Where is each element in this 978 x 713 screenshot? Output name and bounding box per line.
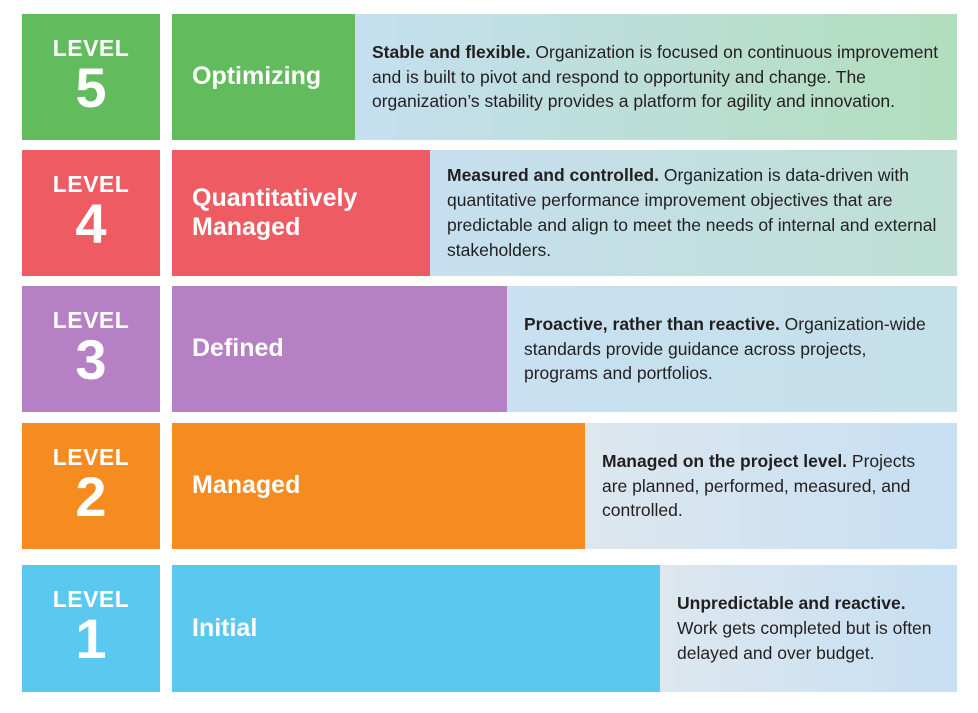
maturity-level-row-2: LEVEL 2 Managed Managed on the project l… xyxy=(0,423,978,549)
level-description-text: Managed on the project level. Projects a… xyxy=(602,449,943,524)
level-number-label: 2 xyxy=(75,471,106,523)
level-description-lead: Unpredictable and reactive. xyxy=(677,593,906,613)
level-name-label: Quantitatively Managed xyxy=(192,184,418,243)
maturity-level-row-1: LEVEL 1 Initial Unpredictable and reacti… xyxy=(0,565,978,692)
level-description-panel-3: Proactive, rather than reactive. Organiz… xyxy=(507,286,957,412)
level-number-label: 5 xyxy=(75,62,106,114)
level-number-label: 4 xyxy=(75,198,106,250)
level-name-label: Defined xyxy=(192,334,284,364)
level-description-lead: Measured and controlled. xyxy=(447,165,659,185)
level-name-bar-4: Quantitatively Managed xyxy=(172,150,430,276)
level-description-text: Measured and controlled. Organization is… xyxy=(447,163,943,262)
level-description-panel-2: Managed on the project level. Projects a… xyxy=(585,423,957,549)
maturity-model-diagram: LEVEL 5 Optimizing Stable and flexible. … xyxy=(0,0,978,713)
level-badge-5: LEVEL 5 xyxy=(22,14,160,140)
level-description-text: Unpredictable and reactive. Work gets co… xyxy=(677,591,943,666)
level-badge-1: LEVEL 1 xyxy=(22,565,160,692)
level-description-panel-4: Measured and controlled. Organization is… xyxy=(430,150,957,276)
level-number-label: 3 xyxy=(75,334,106,386)
maturity-level-row-5: LEVEL 5 Optimizing Stable and flexible. … xyxy=(0,14,978,140)
level-badge-3: LEVEL 3 xyxy=(22,286,160,412)
level-description-body: Work gets completed but is often delayed… xyxy=(677,618,932,663)
level-description-text: Stable and flexible. Organization is foc… xyxy=(372,40,943,115)
level-description-lead: Managed on the project level. xyxy=(602,451,847,471)
level-number-label: 1 xyxy=(75,613,106,665)
level-description-panel-5: Stable and flexible. Organization is foc… xyxy=(355,14,957,140)
level-name-label: Optimizing xyxy=(192,62,321,92)
level-badge-2: LEVEL 2 xyxy=(22,423,160,549)
level-name-label: Initial xyxy=(192,614,257,644)
level-name-bar-1: Initial xyxy=(172,565,660,692)
level-name-bar-5: Optimizing xyxy=(172,14,355,140)
level-description-lead: Proactive, rather than reactive. xyxy=(524,314,780,334)
level-description-lead: Stable and flexible. xyxy=(372,42,531,62)
level-name-bar-3: Defined xyxy=(172,286,507,412)
level-badge-4: LEVEL 4 xyxy=(22,150,160,276)
maturity-level-row-4: LEVEL 4 Quantitatively Managed Measured … xyxy=(0,150,978,276)
level-description-text: Proactive, rather than reactive. Organiz… xyxy=(524,312,943,387)
maturity-level-row-3: LEVEL 3 Defined Proactive, rather than r… xyxy=(0,286,978,412)
level-name-bar-2: Managed xyxy=(172,423,585,549)
level-name-label: Managed xyxy=(192,471,300,501)
level-description-panel-1: Unpredictable and reactive. Work gets co… xyxy=(660,565,957,692)
